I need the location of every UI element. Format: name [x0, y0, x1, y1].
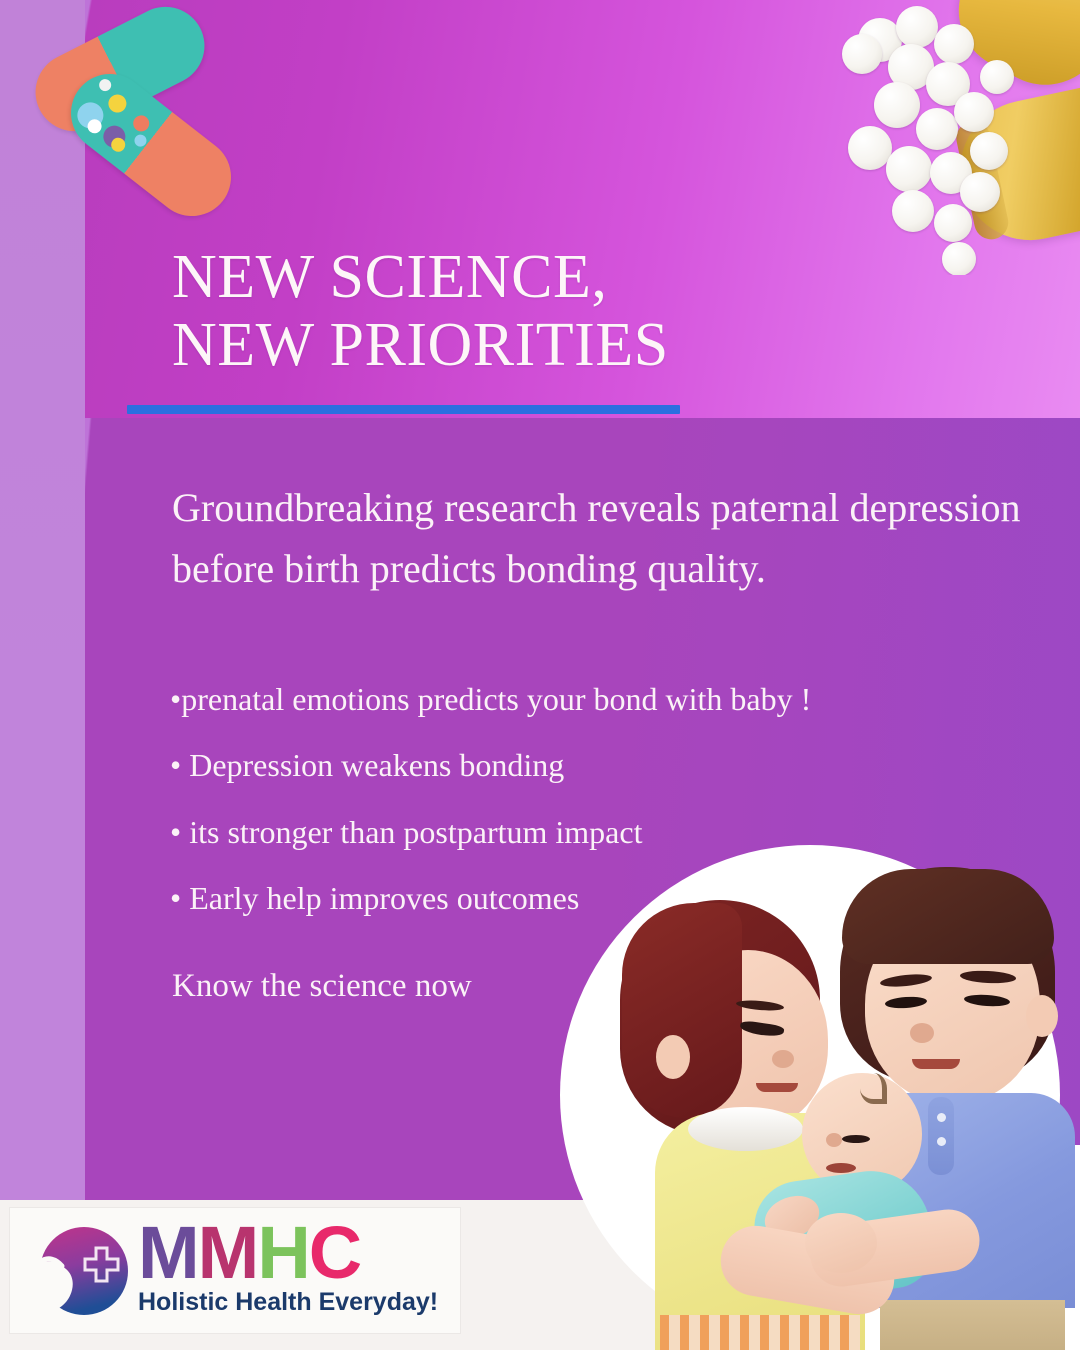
mother-mouth [756, 1083, 798, 1092]
pill-icon [896, 6, 938, 48]
page-title: NEW SCIENCE, NEW PRIORITIES [172, 243, 1002, 379]
logo-letter-m2: M [198, 1216, 258, 1290]
family-illustration [560, 845, 1080, 1350]
subtitle-text: Groundbreaking research reveals paternal… [172, 478, 1032, 600]
pill-icon [892, 190, 934, 232]
granule [130, 112, 152, 134]
pill-icon [874, 82, 920, 128]
mmhc-emblem-icon [32, 1222, 132, 1320]
father-pants [880, 1300, 1065, 1350]
mother-ear [656, 1035, 690, 1079]
poster-canvas: NEW SCIENCE, NEW PRIORITIES Groundbreaki… [0, 0, 1080, 1350]
mother-skirt [660, 1315, 860, 1350]
pill-icon [934, 204, 972, 242]
father-ear [1026, 995, 1058, 1037]
pill-icon [960, 172, 1000, 212]
mother-collar [688, 1107, 803, 1151]
granule [105, 91, 130, 116]
father-fringe [842, 869, 1054, 964]
logo-letter-c: C [309, 1216, 360, 1290]
pill-icon [934, 24, 974, 64]
pill-icon [842, 34, 882, 74]
pill-icon [970, 132, 1008, 170]
mmhc-letters: M M H C [138, 1216, 448, 1290]
list-item: • Depression weakens bonding [170, 746, 1030, 784]
call-to-action-text: Know the science now [172, 968, 472, 1005]
pill-icon [954, 92, 994, 132]
brand-logo[interactable]: M M H C Holistic Health Everyday! [10, 1208, 460, 1333]
spilled-pills-decoration [830, 0, 1080, 275]
logo-tagline: Holistic Health Everyday! [138, 1288, 448, 1317]
title-underline-rule [127, 405, 680, 414]
father-mouth [912, 1059, 960, 1069]
baby-nose [826, 1133, 842, 1147]
pill-icon [980, 60, 1014, 94]
baby-hair-curl [860, 1073, 887, 1104]
mother-hair-front [622, 903, 742, 1118]
title-line-2: NEW PRIORITIES [172, 311, 1002, 379]
mmhc-wordmark: M M H C Holistic Health Everyday! [138, 1216, 448, 1317]
title-line-1: NEW SCIENCE, [172, 243, 1002, 311]
father-hand [805, 1213, 877, 1273]
baby-mouth [826, 1163, 856, 1173]
pill-icon [916, 108, 958, 150]
capsule-pills-decoration [12, 8, 242, 248]
father-shirt-button [937, 1137, 946, 1146]
father-shirt-placket [928, 1097, 954, 1175]
list-item: •prenatal emotions predicts your bond wi… [170, 680, 1030, 718]
pill-icon [848, 126, 892, 170]
granule [132, 132, 149, 149]
baby-eye [842, 1135, 870, 1143]
mother-nose [772, 1050, 794, 1068]
logo-letter-h: H [257, 1216, 308, 1290]
father-nose [910, 1023, 934, 1043]
father-shirt-button [937, 1113, 946, 1122]
pill-icon [886, 146, 932, 192]
granule [97, 77, 114, 94]
logo-letter-m1: M [138, 1216, 198, 1290]
